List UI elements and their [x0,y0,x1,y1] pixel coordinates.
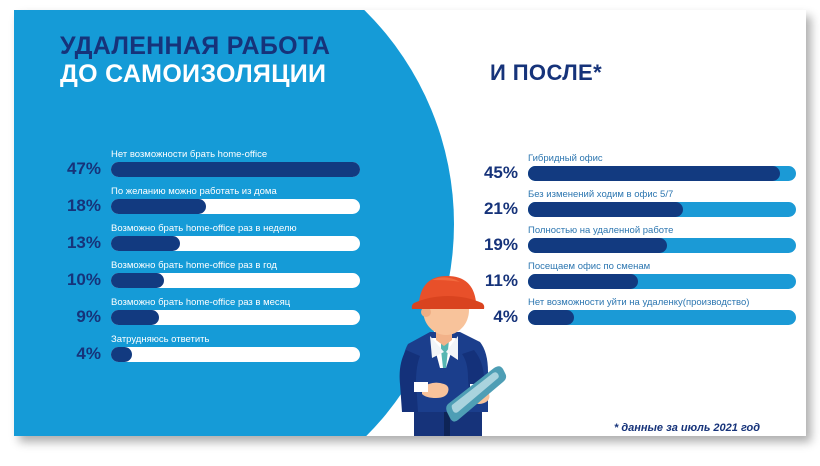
bar-value-label: 9% [50,306,101,327]
bar-row: 45%Гибридный офис [476,152,796,188]
infographic-stage: УДАЛЕННАЯ РАБОТА ДО САМОИЗОЛЯЦИИ И ПОСЛЕ… [0,0,820,466]
bar-value-label: 47% [50,158,101,179]
bar-category-label: Полностью на удаленной работе [528,224,673,237]
bar-category-label: Возможно брать home-office раз в год [111,259,277,272]
bar-track [111,347,360,362]
bar-category-label: Возможно брать home-office раз в месяц [111,296,290,309]
bar-fill [528,274,638,289]
infographic-card: УДАЛЕННАЯ РАБОТА ДО САМОИЗОЛЯЦИИ И ПОСЛЕ… [14,10,806,436]
bar-row: 4%Затрудняюсь ответить [50,333,360,370]
left-bar-chart: 47%Нет возможности брать home-office18%П… [50,148,360,370]
left-chart-title-line1: УДАЛЕННАЯ РАБОТА [60,32,330,60]
bar-value-label: 19% [476,234,518,255]
bar-category-label: Нет возможности брать home-office [111,148,267,161]
bar-category-label: Нет возможности уйти на удаленку(произво… [528,296,749,309]
footnote-text: * данные за июль 2021 год [614,422,760,434]
bar-track [528,274,796,289]
bar-row: 21%Без изменений ходим в офис 5/7 [476,188,796,224]
bar-value-label: 18% [50,195,101,216]
bar-row: 9%Возможно брать home-office раз в месяц [50,296,360,333]
bar-row: 13%Возможно брать home-office раз в неде… [50,222,360,259]
bar-fill [111,310,159,325]
bar-value-label: 45% [476,162,518,183]
bar-track [528,166,796,181]
businessman-illustration [370,272,540,436]
bar-category-label: Без изменений ходим в офис 5/7 [528,188,673,201]
bar-row: 19%Полностью на удаленной работе [476,224,796,260]
left-chart-title: УДАЛЕННАЯ РАБОТА ДО САМОИЗОЛЯЦИИ [60,32,330,88]
bar-row: 47%Нет возможности брать home-office [50,148,360,185]
bar-value-label: 21% [476,198,518,219]
bar-track [111,162,360,177]
bar-fill [528,202,683,217]
bar-value-label: 4% [50,343,101,364]
bar-track [528,310,796,325]
bar-category-label: Затрудняюсь ответить [111,333,209,346]
bar-value-label: 10% [50,269,101,290]
bar-track [111,310,360,325]
bar-track [528,202,796,217]
bar-fill [528,238,667,253]
bar-fill [111,162,360,177]
bar-category-label: Гибридный офис [528,152,603,165]
bar-category-label: По желанию можно работать из дома [111,185,277,198]
bar-track [111,199,360,214]
bar-value-label: 13% [50,232,101,253]
bar-track [111,273,360,288]
bar-fill [111,199,206,214]
bar-track [528,238,796,253]
bar-fill [111,347,132,362]
bar-fill [111,236,180,251]
right-chart-title: И ПОСЛЕ* [490,60,602,86]
bar-track [111,236,360,251]
bar-row: 18%По желанию можно работать из дома [50,185,360,222]
bar-category-label: Посещаем офис по сменам [528,260,650,273]
left-chart-title-line2: ДО САМОИЗОЛЯЦИИ [60,60,330,88]
bar-category-label: Возможно брать home-office раз в неделю [111,222,297,235]
bar-fill [528,166,780,181]
bar-fill [111,273,164,288]
bar-row: 10%Возможно брать home-office раз в год [50,259,360,296]
